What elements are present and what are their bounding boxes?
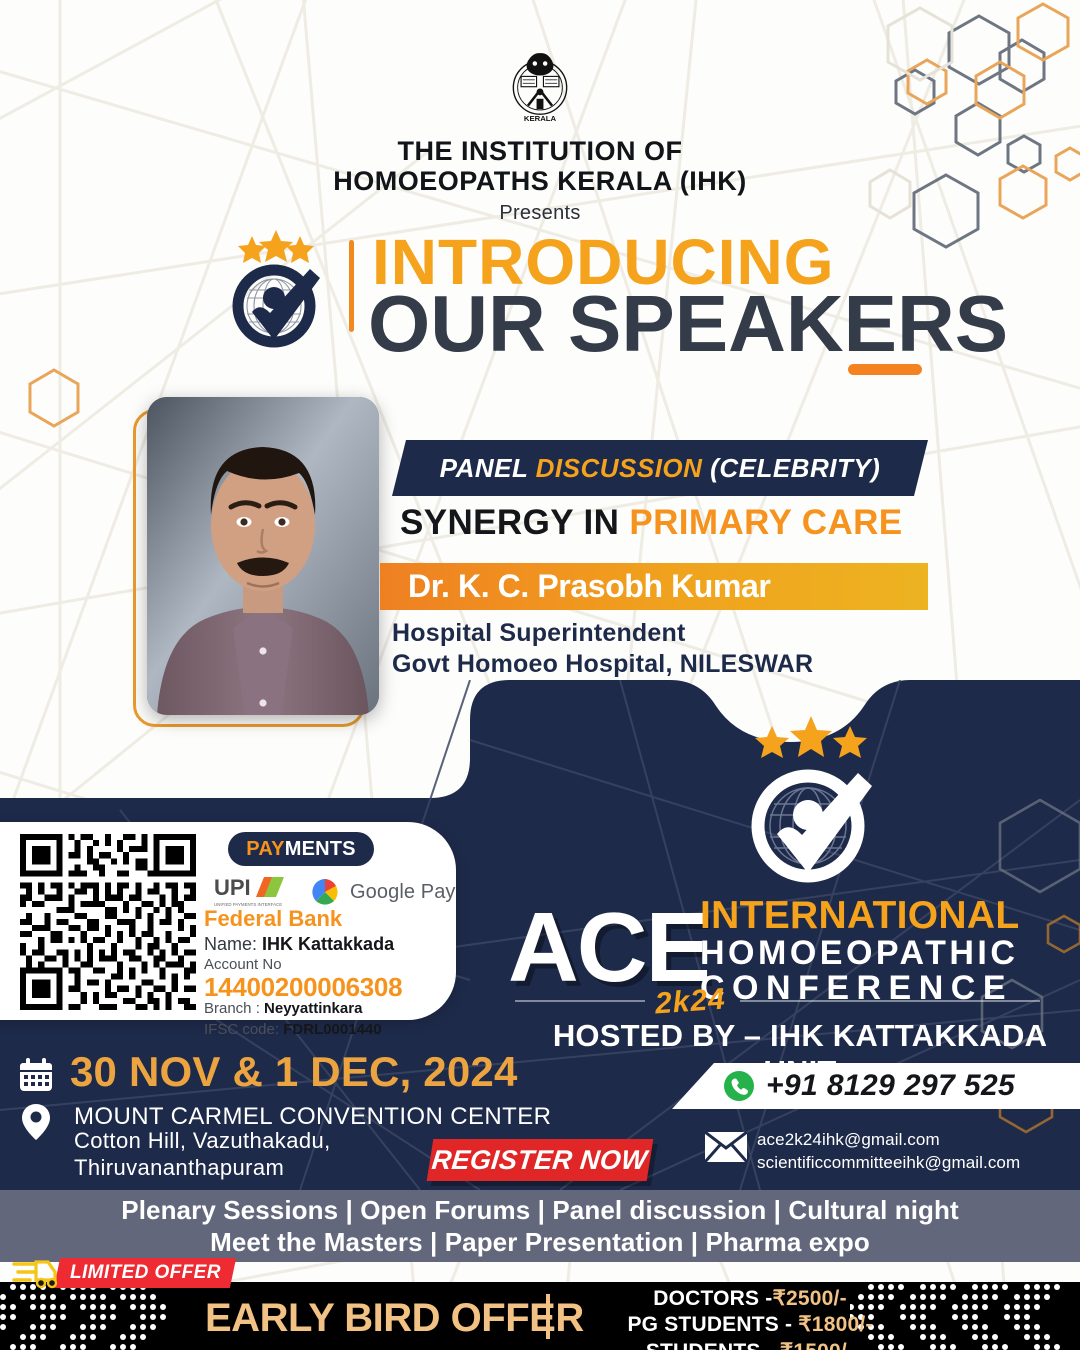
venue-address: Cotton Hill, Vazuthakadu, Thiruvananthap… xyxy=(74,1128,331,1182)
venue-name: MOUNT CARMEL CONVENTION CENTER xyxy=(74,1103,551,1131)
speaker-portrait xyxy=(147,397,379,715)
phone-banner: +91 8129 297 525 xyxy=(672,1063,1080,1109)
ifsc-value: FDRL0001440 xyxy=(283,1021,381,1038)
price-students-label: STUDENTS - xyxy=(646,1340,780,1350)
limited-offer-tag: LIMITED OFFER xyxy=(54,1258,236,1288)
envelope-icon xyxy=(705,1132,747,1162)
venue-address-line-2: Thiruvananthapuram xyxy=(74,1155,331,1182)
poster-header: KERALA THE INSTITUTION OF HOMOEOPATHS KE… xyxy=(0,0,1080,225)
topic-highlight: PRIMARY CARE xyxy=(629,503,902,542)
title-underline xyxy=(848,364,922,375)
banner-prefix: PANEL xyxy=(440,453,536,483)
ace-wordmark: ACE xyxy=(508,898,709,996)
svg-text:KERALA: KERALA xyxy=(524,114,557,123)
early-bird-label: EARLY BIRD OFFER xyxy=(205,1296,584,1341)
price-students-amount: ₹1500/- xyxy=(780,1340,854,1350)
topic-prefix: SYNERGY IN xyxy=(400,503,629,542)
payments-card: PAYMENTS UPI UNIFIED PAYMENTS INTERFACE … xyxy=(0,822,456,1020)
price-doctors: DOCTORS -₹2500/- xyxy=(580,1286,920,1312)
email-addresses: ace2k24ihk@gmail.com scientificcommittee… xyxy=(757,1128,1020,1175)
organisation-name: THE INSTITUTION OF HOMOEOPATHS KERALA (I… xyxy=(0,136,1080,196)
phone-number[interactable]: +91 8129 297 525 xyxy=(766,1069,1015,1103)
venue-address-line-1: Cotton Hill, Vazuthakadu, xyxy=(74,1128,331,1155)
account-holder: Name: IHK Kattakkada xyxy=(204,934,394,955)
qr-code-icon[interactable] xyxy=(20,834,196,1010)
price-pg-amount: ₹1800/- xyxy=(798,1313,872,1336)
phone-icon xyxy=(724,1071,754,1101)
google-pay-icon xyxy=(310,877,340,907)
bank-name: Federal Bank xyxy=(204,906,342,932)
calendar-icon xyxy=(18,1057,54,1093)
globe-check-stars-icon xyxy=(726,716,896,891)
price-list: DOCTORS -₹2500/- PG STUDENTS - ₹1800/- S… xyxy=(580,1286,920,1350)
price-doctors-amount: ₹2500/- xyxy=(772,1287,846,1310)
email-secondary[interactable]: scientificcommitteeihk@gmail.com xyxy=(757,1151,1020,1174)
conference-rule-left xyxy=(515,1000,645,1002)
session-topic: SYNERGY IN PRIMARY CARE xyxy=(400,503,903,543)
sessions-bar: Plenary Sessions | Open Forums | Panel d… xyxy=(0,1190,1080,1262)
limited-offer-label: LIMITED OFFER xyxy=(70,1262,221,1284)
branch-value: Neyyattinkara xyxy=(264,1000,362,1017)
conference-line-2: HOMOEOPATHIC xyxy=(700,936,1019,972)
speaker-affiliation: Hospital Superintendent Govt Homoeo Hosp… xyxy=(392,618,813,681)
title-block: INTRODUCING OUR SPEAKERS xyxy=(0,222,1080,372)
org-line-1: THE INSTITUTION OF xyxy=(0,136,1080,166)
speaker-name-bar: Dr. K. C. Prasobh Kumar xyxy=(380,563,928,610)
banner-suffix: (CELEBRITY) xyxy=(702,453,880,483)
map-pin-icon xyxy=(22,1104,50,1140)
conference-rule-right xyxy=(740,1000,1040,1002)
panel-discussion-banner: PANEL DISCUSSION (CELEBRITY) xyxy=(392,440,928,496)
ifsc-label: IFSC code: xyxy=(204,1021,283,1038)
speaker-photo-frame xyxy=(133,397,380,727)
branch-label: Branch : xyxy=(204,1000,264,1017)
conference-year: 2k24 xyxy=(654,983,727,1022)
poster-root: KERALA THE INSTITUTION OF HOMOEOPATHS KE… xyxy=(0,0,1080,1350)
branch: Branch : Neyyattinkara xyxy=(204,1000,362,1017)
sessions-row-1: Plenary Sessions | Open Forums | Panel d… xyxy=(121,1194,959,1226)
fast-delivery-icon xyxy=(12,1256,58,1290)
ihk-seal-icon: KERALA xyxy=(497,42,583,128)
upi-logo-icon: UPI UNIFIED PAYMENTS INTERFACE xyxy=(214,875,300,909)
account-holder-label: Name: xyxy=(204,934,262,954)
email-primary[interactable]: ace2k24ihk@gmail.com xyxy=(757,1128,1020,1151)
account-holder-value: IHK Kattakkada xyxy=(262,934,394,954)
title-divider xyxy=(349,240,354,332)
speaker-name: Dr. K. C. Prasobh Kumar xyxy=(408,568,770,605)
globe-check-icon xyxy=(216,228,336,353)
payments-badge: PAYMENTS xyxy=(228,832,374,866)
sessions-row-2: Meet the Masters | Paper Presentation | … xyxy=(210,1226,870,1258)
register-now-button[interactable]: REGISTER NOW xyxy=(427,1139,654,1181)
speaker-designation: Hospital Superintendent xyxy=(392,618,813,649)
register-now-label: REGISTER NOW xyxy=(431,1145,649,1176)
google-pay-label: Google Pay xyxy=(350,881,456,904)
banner-highlight: DISCUSSION xyxy=(536,453,703,483)
svg-text:UPI: UPI xyxy=(214,875,251,900)
ifsc: IFSC code: FDRL0001440 xyxy=(204,1021,382,1038)
payment-methods: UPI UNIFIED PAYMENTS INTERFACE Google Pa… xyxy=(214,875,456,909)
price-doctors-label: DOCTORS - xyxy=(653,1287,772,1310)
early-bird-divider xyxy=(546,1294,550,1339)
conference-line-1: INTERNATIONAL xyxy=(700,896,1019,936)
conference-title: INTERNATIONAL HOMOEOPATHIC CONFERENCE xyxy=(700,896,1019,1007)
org-line-2: HOMOEOPATHS KERALA (IHK) xyxy=(0,166,1080,196)
price-pg-label: PG STUDENTS - xyxy=(627,1313,798,1336)
price-pg-students: PG STUDENTS - ₹1800/- xyxy=(580,1312,920,1338)
payments-badge-b: MENTS xyxy=(285,838,356,860)
payments-badge-a: PAY xyxy=(246,838,284,860)
price-students: STUDENTS - ₹1500/- xyxy=(580,1339,920,1350)
account-number-label: Account No xyxy=(204,956,282,973)
account-number-value: 14400200006308 xyxy=(204,972,402,1003)
title-our-speakers: OUR SPEAKERS xyxy=(368,284,1008,364)
event-date: 30 NOV & 1 DEC, 2024 xyxy=(70,1048,518,1096)
speaker-institution: Govt Homoeo Hospital, NILESWAR xyxy=(392,649,813,680)
